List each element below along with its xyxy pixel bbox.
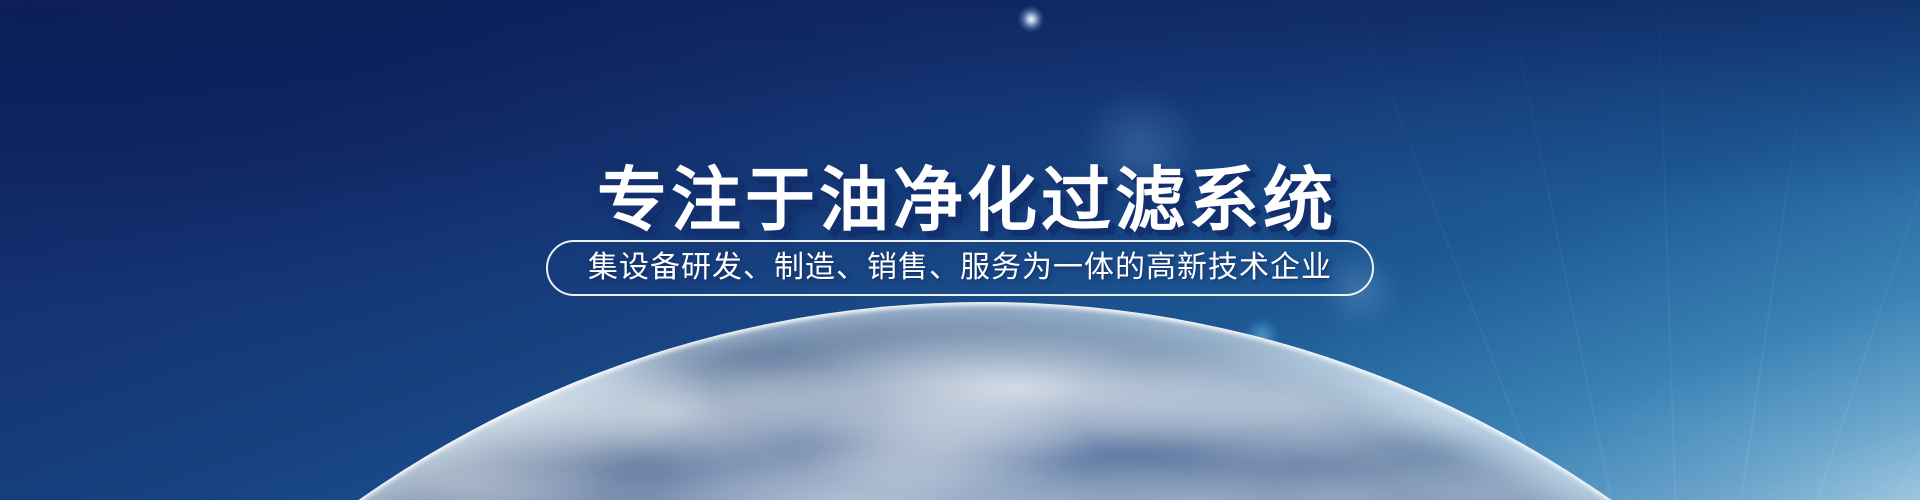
banner-headline: 专注于油净化过滤系统	[0, 165, 1920, 235]
banner-subtitle-pill: 集设备研发、制造、销售、服务为一体的高新技术企业	[546, 240, 1374, 296]
banner-subtitle: 集设备研发、制造、销售、服务为一体的高新技术企业	[588, 253, 1332, 283]
banner-content: 专注于油净化过滤系统 集设备研发、制造、销售、服务为一体的高新技术企业	[0, 0, 1920, 500]
hero-banner: 专注于油净化过滤系统 集设备研发、制造、销售、服务为一体的高新技术企业	[0, 0, 1920, 500]
